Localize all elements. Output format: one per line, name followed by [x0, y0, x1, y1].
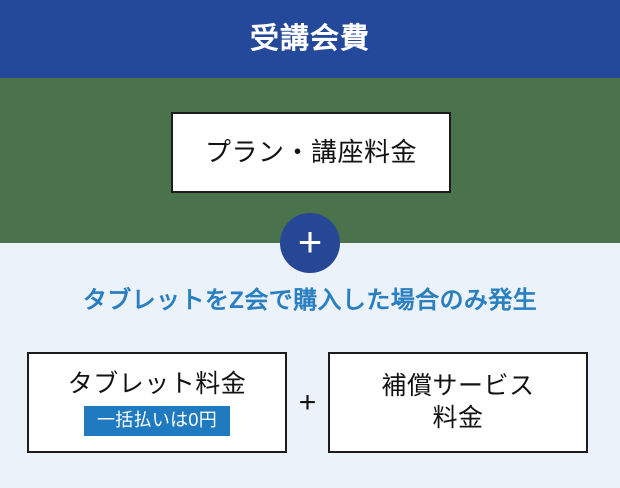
plus-circle-connector: + [280, 213, 340, 273]
fee-structure-infographic: 受講会費 プラン・講座料金 + タブレットをZ会で購入した場合のみ発生 タブレッ… [0, 0, 620, 488]
fee-plus-operator-icon: + [287, 352, 328, 453]
plan-fee-box: プラン・講座料金 [171, 112, 451, 193]
plus-icon: + [280, 213, 340, 273]
condition-note: タブレットをZ会で購入した場合のみ発生 [0, 287, 620, 316]
page-title: 受講会費 [0, 0, 620, 78]
header-banner: 受講会費 [0, 0, 620, 78]
insurance-fee-box: 補償サービス 料金 [328, 352, 588, 453]
insurance-fee-label: 補償サービス 料金 [381, 371, 534, 434]
tablet-fee-box: タブレット料金 一括払いは0円 [27, 352, 287, 453]
fee-boxes-row: タブレット料金 一括払いは0円 + 補償サービス 料金 [0, 352, 620, 453]
tablet-fee-badge: 一括払いは0円 [84, 406, 230, 436]
tablet-fee-label: タブレット料金 [68, 369, 247, 400]
plan-fee-label: プラン・講座料金 [205, 137, 417, 168]
